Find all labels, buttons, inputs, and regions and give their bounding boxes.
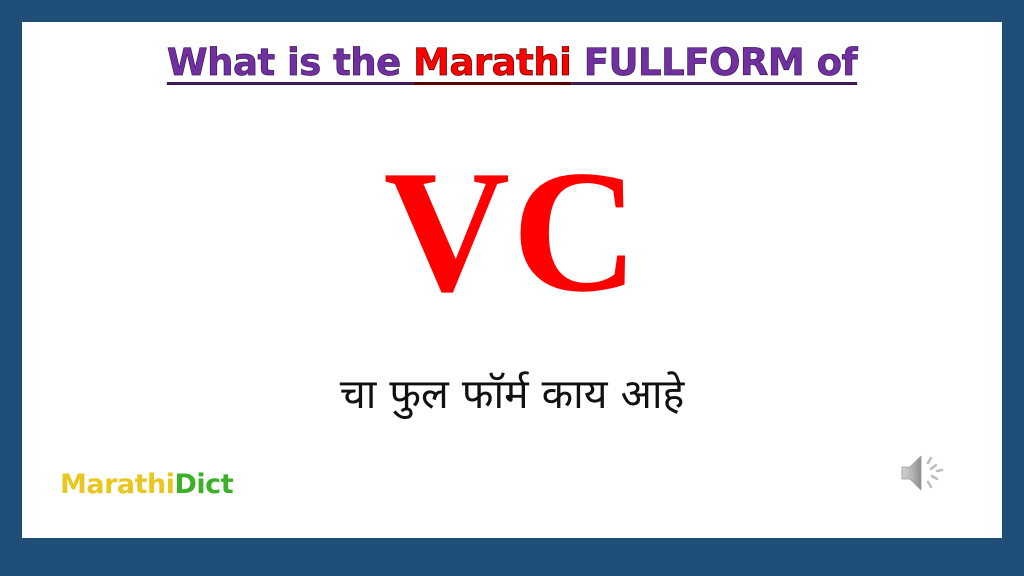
page-title: What is the Marathi FULLFORM of [22, 42, 1002, 85]
slide-frame: What is the Marathi FULLFORM of VC चा फु… [0, 0, 1024, 576]
slide-canvas: What is the Marathi FULLFORM of VC चा फु… [22, 22, 1002, 538]
headline-part-2: FULLFORM of [571, 41, 857, 84]
abbreviation-text: VC [22, 144, 1002, 319]
logo-text-dict: Dict [175, 469, 234, 500]
marathidict-logo: MarathiDict [60, 471, 233, 498]
headline-part-1: What is the [167, 41, 413, 84]
marathi-subtitle: चा फुल फॉर्म काय आहे [22, 369, 1002, 420]
headline-part-highlight: Marathi [413, 41, 571, 84]
speaker-icon[interactable] [898, 450, 950, 496]
logo-text-marathi: Marathi [60, 469, 175, 500]
